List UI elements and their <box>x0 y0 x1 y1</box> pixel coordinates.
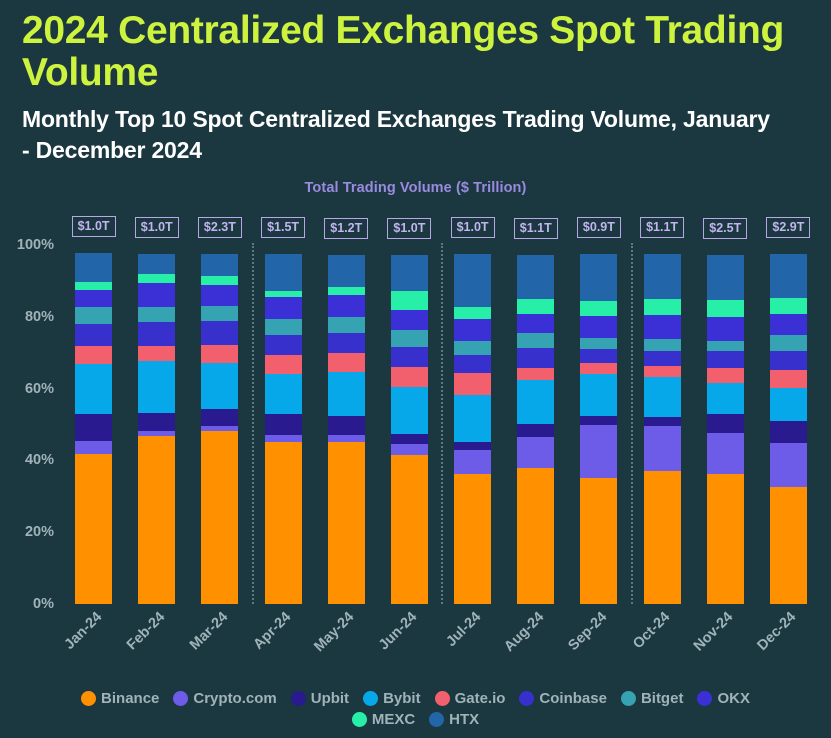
bar-segment-mexc[interactable] <box>770 298 807 314</box>
legend-item-upbit[interactable]: Upbit <box>291 690 349 707</box>
bar-segment-gate-io[interactable] <box>201 345 238 363</box>
bar-segment-crypto-com[interactable] <box>138 431 175 436</box>
bar-segment-bybit[interactable] <box>644 377 681 417</box>
legend-swatch-icon <box>363 691 378 706</box>
x-axis-tick-oct-24: Oct-24 <box>630 609 673 652</box>
bar-segment-bybit[interactable] <box>201 363 238 409</box>
stacked-bar[interactable]: $0.9T <box>580 245 617 604</box>
total-volume-label: $0.9T <box>577 217 621 238</box>
bar-segment-bitget[interactable] <box>75 307 112 324</box>
legend-item-okx[interactable]: OKX <box>697 690 750 707</box>
stacked-bar[interactable]: $1.5T <box>265 245 302 604</box>
bar-segment-mexc[interactable] <box>138 274 175 283</box>
bar-segment-binance[interactable] <box>644 471 681 604</box>
bar-segment-gate-io[interactable] <box>265 355 302 374</box>
stacked-bar[interactable]: $1.2T <box>328 245 365 604</box>
bar-segment-upbit[interactable] <box>580 416 617 425</box>
legend-item-bitget[interactable]: Bitget <box>621 690 684 707</box>
bar-segment-okx[interactable] <box>328 295 365 317</box>
bar-segment-mexc[interactable] <box>75 282 112 290</box>
page-title: 2024 Centralized Exchanges Spot Trading … <box>22 10 812 94</box>
bar-segment-bitget[interactable] <box>454 341 491 355</box>
bar-segment-crypto-com[interactable] <box>707 433 744 474</box>
bar-segment-crypto-com[interactable] <box>265 435 302 443</box>
bar-segment-binance[interactable] <box>580 478 617 604</box>
stacked-bar[interactable]: $1.0T <box>391 245 428 604</box>
bar-segment-htx[interactable] <box>201 254 238 276</box>
bar-segment-bitget[interactable] <box>138 307 175 322</box>
legend-item-mexc[interactable]: MEXC <box>352 711 415 728</box>
bar-segment-htx[interactable] <box>138 254 175 274</box>
bar-segment-bybit[interactable] <box>707 383 744 414</box>
bar-segment-htx[interactable] <box>75 253 112 282</box>
bar-segment-binance[interactable] <box>201 431 238 604</box>
x-axis-tick-feb-24: Feb-24 <box>124 609 168 653</box>
bar-segment-htx[interactable] <box>454 254 491 307</box>
bar-segment-bybit[interactable] <box>391 387 428 434</box>
bar-segment-coinbase[interactable] <box>391 347 428 367</box>
bar-segment-gate-io[interactable] <box>328 353 365 372</box>
legend-item-coinbase[interactable]: Coinbase <box>519 690 607 707</box>
legend-item-htx[interactable]: HTX <box>429 711 479 728</box>
bar-column-jun-24[interactable]: $1.0TJun-24 <box>378 245 441 604</box>
bar-column-dec-24[interactable]: $2.9TDec-24 <box>757 245 820 604</box>
bar-segment-htx[interactable] <box>580 254 617 301</box>
legend-row-1: BinanceCrypto.comUpbitBybitGate.ioCoinba… <box>0 690 831 707</box>
total-volume-label: $1.0T <box>72 216 116 237</box>
total-volume-label: $1.2T <box>324 218 368 239</box>
bar-segment-gate-io[interactable] <box>707 368 744 383</box>
x-axis-tick-jun-24: Jun-24 <box>376 609 420 653</box>
legend-item-crypto-com[interactable]: Crypto.com <box>173 690 276 707</box>
bar-segment-crypto-com[interactable] <box>75 441 112 454</box>
legend-label: Upbit <box>311 690 349 707</box>
bar-segment-coinbase[interactable] <box>707 351 744 368</box>
y-axis-tick-40: 40% <box>25 452 54 468</box>
legend-label: MEXC <box>372 711 415 728</box>
bar-segment-coinbase[interactable] <box>138 322 175 346</box>
bar-segment-binance[interactable] <box>707 474 744 604</box>
bar-segment-okx[interactable] <box>138 283 175 307</box>
bar-segment-gate-io[interactable] <box>454 373 491 395</box>
legend-swatch-icon <box>519 691 534 706</box>
bar-segment-coinbase[interactable] <box>265 335 302 354</box>
bar-segment-upbit[interactable] <box>265 414 302 434</box>
bar-segment-upbit[interactable] <box>644 417 681 426</box>
legend-swatch-icon <box>697 691 712 706</box>
bar-column-oct-24[interactable]: $1.1TOct-24 <box>631 245 694 604</box>
bar-segment-bitget[interactable] <box>391 330 428 347</box>
bar-segment-htx[interactable] <box>328 255 365 287</box>
chart-legend: BinanceCrypto.comUpbitBybitGate.ioCoinba… <box>0 690 831 732</box>
bar-segment-mexc[interactable] <box>517 299 554 314</box>
bar-segment-bybit[interactable] <box>138 361 175 413</box>
bar-segment-binance[interactable] <box>138 436 175 604</box>
x-axis-tick-dec-24: Dec-24 <box>755 609 800 654</box>
bar-segment-binance[interactable] <box>328 442 365 604</box>
stacked-bar[interactable]: $1.0T <box>75 245 112 604</box>
total-volume-label: $1.5T <box>261 217 305 238</box>
x-axis-tick-apr-24: Apr-24 <box>251 609 295 653</box>
bar-segment-gate-io[interactable] <box>644 366 681 378</box>
bar-segment-upbit[interactable] <box>328 416 365 435</box>
stacked-bar[interactable]: $2.9T <box>770 245 807 604</box>
legend-swatch-icon <box>81 691 96 706</box>
total-volume-label: $2.3T <box>198 217 242 238</box>
bar-segment-bitget[interactable] <box>517 333 554 348</box>
legend-label: Crypto.com <box>193 690 276 707</box>
y-axis-tick-100: 100% <box>17 237 54 253</box>
bar-segment-upbit[interactable] <box>201 409 238 426</box>
bar-segment-coinbase[interactable] <box>644 351 681 366</box>
x-axis-tick-nov-24: Nov-24 <box>691 609 737 655</box>
bar-segment-bybit[interactable] <box>75 364 112 414</box>
total-volume-label: $2.9T <box>766 217 810 238</box>
bar-segment-coinbase[interactable] <box>75 324 112 346</box>
bar-column-aug-24[interactable]: $1.1TAug-24 <box>504 245 567 604</box>
y-axis-tick-60: 60% <box>25 381 54 397</box>
legend-row-2: MEXCHTX <box>0 711 831 728</box>
bar-segment-mexc[interactable] <box>328 287 365 295</box>
bar-segment-bitget[interactable] <box>644 339 681 350</box>
volume-header-label: Total Trading Volume ($ Trillion) <box>0 180 831 196</box>
bar-column-apr-24[interactable]: $1.5TApr-24 <box>252 245 315 604</box>
bar-segment-bitget[interactable] <box>770 335 807 351</box>
legend-swatch-icon <box>429 712 444 727</box>
bar-segment-coinbase[interactable] <box>770 351 807 370</box>
bar-segment-bitget[interactable] <box>707 341 744 351</box>
bar-segment-bitget[interactable] <box>580 338 617 349</box>
bar-segment-upbit[interactable] <box>454 442 491 450</box>
bar-segment-crypto-com[interactable] <box>391 444 428 455</box>
y-axis-tick-20: 20% <box>25 524 54 540</box>
bar-segment-htx[interactable] <box>770 254 807 298</box>
y-axis-tick-80: 80% <box>25 309 54 325</box>
bar-segment-gate-io[interactable] <box>138 346 175 361</box>
bar-column-jul-24[interactable]: $1.0TJul-24 <box>441 245 504 604</box>
bar-segment-okx[interactable] <box>517 314 554 333</box>
legend-item-binance[interactable]: Binance <box>81 690 159 707</box>
bar-segment-coinbase[interactable] <box>580 349 617 363</box>
legend-swatch-icon <box>352 712 367 727</box>
bar-column-sep-24[interactable]: $0.9TSep-24 <box>567 245 630 604</box>
bar-segment-bitget[interactable] <box>201 306 238 321</box>
bar-segment-upbit[interactable] <box>517 424 554 437</box>
stacked-bar[interactable]: $1.1T <box>644 245 681 604</box>
bar-segment-crypto-com[interactable] <box>454 450 491 474</box>
bar-segment-okx[interactable] <box>707 317 744 341</box>
bar-segment-okx[interactable] <box>770 314 807 336</box>
bar-segment-bybit[interactable] <box>454 395 491 442</box>
total-volume-label: $1.1T <box>640 217 684 238</box>
stacked-bar[interactable]: $2.3T <box>201 245 238 604</box>
stacked-bar[interactable]: $2.5T <box>707 245 744 604</box>
bar-segment-bybit[interactable] <box>517 380 554 424</box>
bar-segment-upbit[interactable] <box>391 434 428 444</box>
legend-swatch-icon <box>621 691 636 706</box>
bar-segment-mexc[interactable] <box>644 299 681 316</box>
bar-segment-coinbase[interactable] <box>201 321 238 345</box>
stacked-bar[interactable]: $1.1T <box>517 245 554 604</box>
bar-segment-upbit[interactable] <box>707 414 744 433</box>
x-axis-tick-may-24: May-24 <box>311 609 357 655</box>
bar-segment-crypto-com[interactable] <box>201 426 238 431</box>
bar-segment-gate-io[interactable] <box>770 370 807 388</box>
bar-segment-bybit[interactable] <box>328 372 365 416</box>
bar-segment-okx[interactable] <box>454 319 491 341</box>
bar-column-may-24[interactable]: $1.2TMay-24 <box>315 245 378 604</box>
x-axis-tick-aug-24: Aug-24 <box>501 609 547 655</box>
total-volume-label: $1.0T <box>387 218 431 239</box>
bar-segment-upbit[interactable] <box>138 413 175 431</box>
chart-plot-area: 0%20%40%60%80%100%$1.0TJan-24$1.0TFeb-24… <box>62 245 820 604</box>
bar-segment-htx[interactable] <box>517 255 554 299</box>
bar-segment-gate-io[interactable] <box>580 363 617 373</box>
bar-segment-htx[interactable] <box>391 255 428 291</box>
bar-segment-mexc[interactable] <box>391 291 428 310</box>
legend-label: Bybit <box>383 690 421 707</box>
bar-segment-gate-io[interactable] <box>75 346 112 364</box>
bar-segment-binance[interactable] <box>770 487 807 604</box>
bar-segment-htx[interactable] <box>644 254 681 299</box>
x-axis-tick-sep-24: Sep-24 <box>565 609 610 654</box>
x-axis-tick-jul-24: Jul-24 <box>443 609 484 650</box>
bar-column-jan-24[interactable]: $1.0TJan-24 <box>62 245 125 604</box>
total-volume-label: $1.0T <box>451 217 495 238</box>
bar-segment-bitget[interactable] <box>265 319 302 336</box>
bar-segment-okx[interactable] <box>580 316 617 338</box>
legend-swatch-icon <box>435 691 450 706</box>
bar-segment-mexc[interactable] <box>580 301 617 317</box>
bar-column-nov-24[interactable]: $2.5TNov-24 <box>694 245 757 604</box>
chart-page: 2024 Centralized Exchanges Spot Trading … <box>0 0 831 738</box>
bar-segment-mexc[interactable] <box>707 300 744 317</box>
bar-segment-upbit[interactable] <box>75 414 112 441</box>
legend-swatch-icon <box>173 691 188 706</box>
bar-segment-binance[interactable] <box>75 454 112 604</box>
legend-item-bybit[interactable]: Bybit <box>363 690 421 707</box>
legend-label: HTX <box>449 711 479 728</box>
legend-label: Binance <box>101 690 159 707</box>
page-subtitle: Monthly Top 10 Spot Centralized Exchange… <box>22 104 782 165</box>
bar-segment-coinbase[interactable] <box>454 355 491 373</box>
legend-item-gate-io[interactable]: Gate.io <box>435 690 506 707</box>
x-axis-tick-jan-24: Jan-24 <box>61 609 105 653</box>
bar-segment-binance[interactable] <box>391 455 428 604</box>
bar-segment-gate-io[interactable] <box>391 367 428 387</box>
bar-segment-coinbase[interactable] <box>517 348 554 368</box>
bar-segment-mexc[interactable] <box>454 307 491 319</box>
bar-segment-crypto-com[interactable] <box>580 425 617 478</box>
legend-label: Gate.io <box>455 690 506 707</box>
stacked-bar[interactable]: $1.0T <box>138 245 175 604</box>
bar-segment-upbit[interactable] <box>770 421 807 443</box>
stacked-bar[interactable]: $1.0T <box>454 245 491 604</box>
total-volume-label: $1.0T <box>135 217 179 238</box>
bar-segment-mexc[interactable] <box>201 276 238 285</box>
legend-swatch-icon <box>291 691 306 706</box>
legend-label: OKX <box>717 690 750 707</box>
total-volume-label: $1.1T <box>514 218 558 239</box>
bar-segment-bybit[interactable] <box>770 388 807 421</box>
bar-segment-okx[interactable] <box>265 297 302 319</box>
bar-segment-crypto-com[interactable] <box>644 426 681 471</box>
legend-label: Coinbase <box>539 690 607 707</box>
bar-segment-bybit[interactable] <box>580 374 617 416</box>
bar-segment-binance[interactable] <box>517 468 554 604</box>
bar-segment-gate-io[interactable] <box>517 368 554 380</box>
bar-segment-binance[interactable] <box>454 474 491 604</box>
bar-segment-bitget[interactable] <box>328 317 365 333</box>
bar-segment-okx[interactable] <box>644 315 681 339</box>
bar-column-feb-24[interactable]: $1.0TFeb-24 <box>125 245 188 604</box>
bar-column-mar-24[interactable]: $2.3TMar-24 <box>188 245 251 604</box>
total-volume-label: $2.5T <box>703 218 747 239</box>
bar-segment-htx[interactable] <box>707 255 744 300</box>
bar-segment-okx[interactable] <box>201 285 238 306</box>
bar-segment-crypto-com[interactable] <box>517 437 554 468</box>
y-axis-tick-0: 0% <box>33 596 54 612</box>
bar-segment-mexc[interactable] <box>265 291 302 297</box>
x-axis-tick-mar-24: Mar-24 <box>187 609 231 653</box>
bar-segment-htx[interactable] <box>265 254 302 291</box>
bar-segment-crypto-com[interactable] <box>770 443 807 487</box>
bar-segment-okx[interactable] <box>391 310 428 330</box>
bar-segment-binance[interactable] <box>265 442 302 604</box>
bar-segment-bybit[interactable] <box>265 374 302 415</box>
bar-segment-coinbase[interactable] <box>328 333 365 353</box>
bar-segment-crypto-com[interactable] <box>328 435 365 443</box>
bar-segment-okx[interactable] <box>75 290 112 308</box>
legend-label: Bitget <box>641 690 684 707</box>
